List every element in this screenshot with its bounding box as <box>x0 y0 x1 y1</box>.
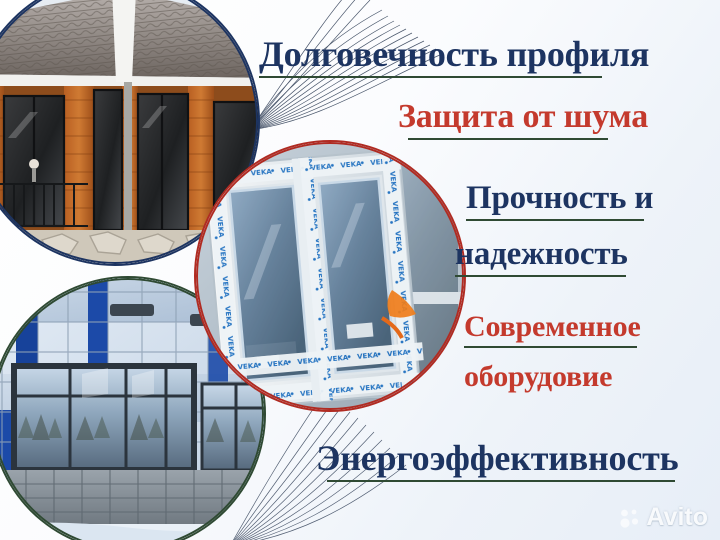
benefit-energy-efficiency-text: Энергоэффективность <box>316 438 678 478</box>
benefit-equipment-line2: оборудовие <box>464 362 612 392</box>
benefit-modern-equipment-underline <box>464 346 637 348</box>
benefit-noise-protection: Защита от шума <box>398 100 648 140</box>
benefit-strength: Прочность и <box>466 182 653 221</box>
benefit-modern-equipment-text: Современное <box>464 310 641 343</box>
benefit-energy-efficiency-underline <box>327 480 675 482</box>
benefit-strength-underline <box>466 219 644 221</box>
benefit-equipment-line2-text: оборудовие <box>464 360 612 393</box>
poster-canvas: VEKA VEKA <box>0 0 720 540</box>
benefit-durability: Долговечность профиля <box>259 36 649 78</box>
benefit-energy-efficiency: Энергоэффективность <box>316 440 678 482</box>
photo-circle-windows: VEKA VEKA <box>196 142 464 410</box>
benefit-reliability-text: надежность <box>455 236 628 272</box>
benefit-noise-protection-underline <box>408 138 608 140</box>
avito-watermark: Avito <box>619 503 708 532</box>
benefit-reliability-underline <box>455 275 626 277</box>
benefit-modern-equipment: Современное <box>464 312 641 348</box>
benefit-noise-protection-text: Защита от шума <box>398 98 648 135</box>
benefit-reliability: надежность <box>455 238 628 277</box>
benefit-durability-text: Долговечность профиля <box>259 34 649 74</box>
windows-photo-art: VEKA VEKA <box>196 142 464 410</box>
avito-watermark-label: Avito <box>646 503 708 532</box>
avito-dots-icon <box>619 507 641 529</box>
benefit-strength-text: Прочность и <box>466 180 653 216</box>
benefit-durability-underline <box>259 76 602 78</box>
